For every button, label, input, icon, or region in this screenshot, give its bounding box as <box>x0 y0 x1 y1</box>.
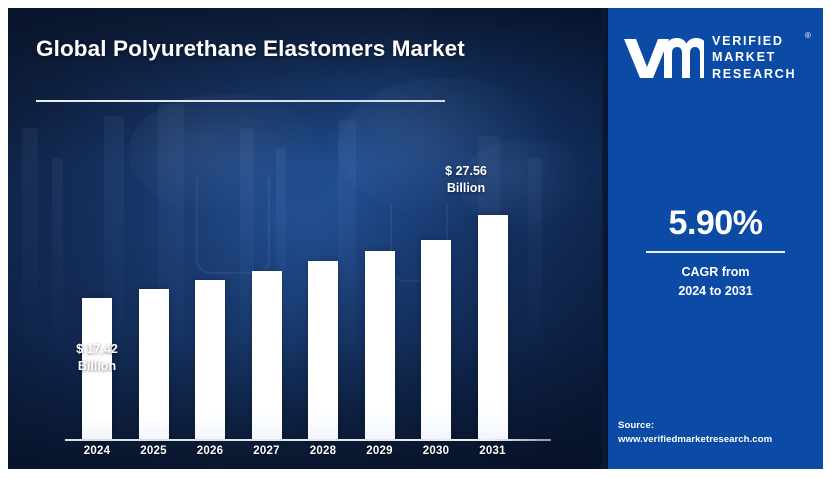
registered-trademark-icon: ® <box>805 31 811 40</box>
source-attribution: Source: www.verifiedmarketresearch.com <box>618 419 823 447</box>
x-axis-line <box>65 439 551 441</box>
brand-panel: VERIFIED MARKET RESEARCH ® 5.90% CAGR fr… <box>608 8 823 469</box>
x-label-2028: 2028 <box>296 445 350 457</box>
logo-wordmark: VERIFIED MARKET RESEARCH <box>712 33 796 82</box>
value-label-first-unit: Billion <box>43 358 151 375</box>
x-label-2024: 2024 <box>70 445 124 457</box>
logo-line-market: MARKET <box>712 49 796 65</box>
x-label-2029: 2029 <box>353 445 407 457</box>
bar-2026 <box>195 280 225 439</box>
bar-2031 <box>478 215 508 439</box>
source-url[interactable]: www.verifiedmarketresearch.com <box>618 433 823 447</box>
infographic-card: Global Polyurethane Elastomers Market 20… <box>8 8 823 469</box>
value-label-first-amount: $ 17.42 <box>43 341 151 358</box>
bar-2029 <box>365 251 395 439</box>
chart-panel: Global Polyurethane Elastomers Market 20… <box>8 8 602 469</box>
bar-2028 <box>308 261 338 439</box>
bar-2027 <box>252 271 282 439</box>
cagr-caption-line2: 2024 to 2031 <box>608 282 823 301</box>
bar-chart: 20242025202620272028202920302031 $ 17.42… <box>8 8 602 469</box>
x-label-2027: 2027 <box>240 445 294 457</box>
value-label-first: $ 17.42 Billion <box>43 341 151 376</box>
cagr-value: 5.90% <box>608 204 823 243</box>
x-label-2025: 2025 <box>127 445 181 457</box>
verified-market-research-logo: VERIFIED MARKET RESEARCH ® <box>618 30 818 86</box>
cagr-divider <box>646 251 785 253</box>
bar-2030 <box>421 240 451 439</box>
value-label-last-unit: Billion <box>412 180 520 197</box>
vmr-monogram-icon <box>622 34 704 80</box>
value-label-last: $ 27.56 Billion <box>412 163 520 198</box>
cagr-caption-line1: CAGR from <box>608 263 823 282</box>
x-label-2026: 2026 <box>183 445 237 457</box>
source-label: Source: <box>618 419 823 433</box>
value-label-last-amount: $ 27.56 <box>412 163 520 180</box>
x-label-2031: 2031 <box>466 445 520 457</box>
logo-line-verified: VERIFIED <box>712 33 796 49</box>
x-label-2030: 2030 <box>409 445 463 457</box>
cagr-caption: CAGR from 2024 to 2031 <box>608 263 823 302</box>
logo-line-research: RESEARCH <box>712 66 796 82</box>
